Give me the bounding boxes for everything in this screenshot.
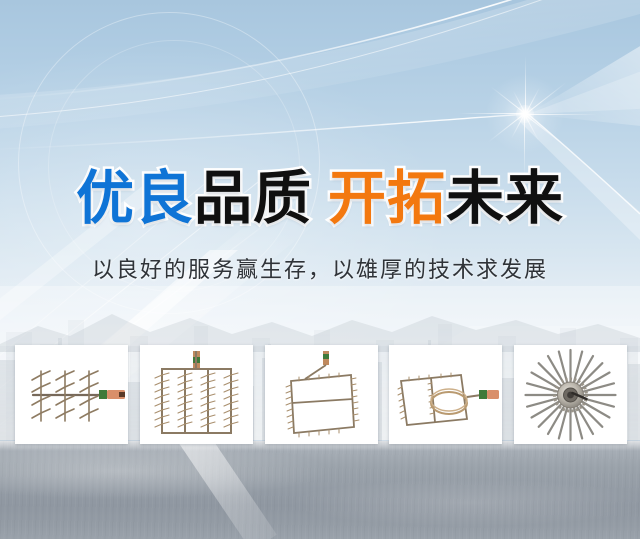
flare-ray [459,113,525,114]
page-subtitle: 以良好的服务赢生存，以雄厚的技术求发展 [0,256,640,286]
dense-tooth-frame-rack-icon [140,345,253,444]
flare-ray [525,56,526,114]
headline-part-orange: 开拓 [328,164,446,232]
concrete-ground [0,441,640,539]
flat-panel-grid-rack-icon [265,345,378,444]
product-card-1[interactable]: 梳齿式电镀挂具 [15,345,128,444]
headline-part-blue: 优良 [76,164,194,232]
page-title: 优良品质开拓未来 [0,163,640,233]
comb-style-plating-rack-icon [15,345,128,444]
product-card-row: 梳齿式电镀挂具 [15,345,627,444]
ground-sheen [0,441,640,539]
product-card-2[interactable]: 密齿框架挂具 [140,345,253,444]
flare-ray [525,114,597,115]
promo-banner: 优良品质开拓未来 以良好的服务赢生存，以雄厚的技术求发展 梳齿式电镀挂具 [0,0,640,539]
square-ring-rack-icon [389,345,502,444]
headline-part-dark-2: 未来 [446,164,564,232]
product-card-4[interactable]: 方框圆环挂具 [389,345,502,444]
product-card-3[interactable]: 平板网格挂具 [265,345,378,444]
product-card-5[interactable]: 放射星形挂具 [514,345,627,444]
radial-star-rack-icon [514,345,627,444]
headline-part-dark-1: 品质 [194,164,312,232]
